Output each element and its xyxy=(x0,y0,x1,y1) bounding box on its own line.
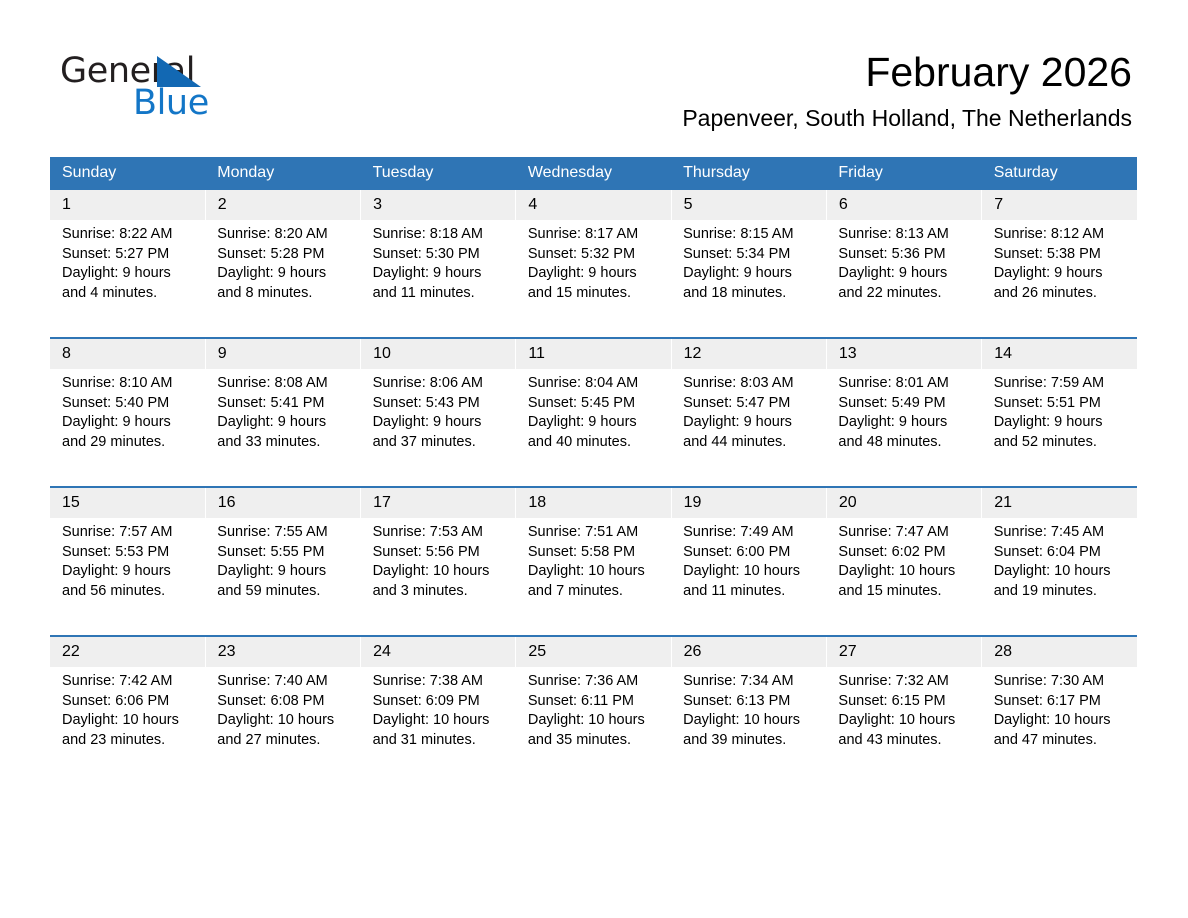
sunrise-text: Sunrise: 8:18 AM xyxy=(373,225,508,245)
week-4-day-numbers: 22 23 24 25 26 27 28 xyxy=(50,636,1137,667)
day-number[interactable]: 17 xyxy=(361,487,516,518)
week-3-day-details: Sunrise: 7:57 AM Sunset: 5:53 PM Dayligh… xyxy=(50,518,1137,636)
day-number[interactable]: 1 xyxy=(50,190,205,220)
daylight-text-line1: Daylight: 10 hours xyxy=(994,711,1129,731)
sunset-text: Sunset: 5:36 PM xyxy=(838,245,973,265)
day-cell[interactable]: Sunrise: 7:55 AM Sunset: 5:55 PM Dayligh… xyxy=(205,518,360,636)
daylight-text-line1: Daylight: 9 hours xyxy=(683,264,818,284)
sunset-text: Sunset: 5:47 PM xyxy=(683,394,818,414)
daylight-text-line1: Daylight: 10 hours xyxy=(683,562,818,582)
sunrise-text: Sunrise: 8:01 AM xyxy=(838,374,973,394)
day-cell[interactable]: Sunrise: 8:03 AM Sunset: 5:47 PM Dayligh… xyxy=(671,369,826,487)
sunrise-text: Sunrise: 7:45 AM xyxy=(994,523,1129,543)
day-cell[interactable]: Sunrise: 7:59 AM Sunset: 5:51 PM Dayligh… xyxy=(982,369,1137,487)
daylight-text-line1: Daylight: 10 hours xyxy=(838,562,973,582)
day-number[interactable]: 13 xyxy=(826,338,981,369)
daylight-text-line1: Daylight: 10 hours xyxy=(217,711,352,731)
sunrise-text: Sunrise: 7:30 AM xyxy=(994,672,1129,692)
weekday-header-monday: Monday xyxy=(205,157,360,190)
sunrise-text: Sunrise: 7:51 AM xyxy=(528,523,663,543)
day-cell[interactable]: Sunrise: 7:57 AM Sunset: 5:53 PM Dayligh… xyxy=(50,518,205,636)
sunset-text: Sunset: 6:08 PM xyxy=(217,692,352,712)
sunrise-text: Sunrise: 7:40 AM xyxy=(217,672,352,692)
sunset-text: Sunset: 5:43 PM xyxy=(373,394,508,414)
day-number[interactable]: 22 xyxy=(50,636,205,667)
sunset-text: Sunset: 6:04 PM xyxy=(994,543,1129,563)
daylight-text-line2: and 19 minutes. xyxy=(994,582,1129,602)
sunrise-text: Sunrise: 8:03 AM xyxy=(683,374,818,394)
daylight-text-line2: and 7 minutes. xyxy=(528,582,663,602)
day-cell[interactable]: Sunrise: 8:15 AM Sunset: 5:34 PM Dayligh… xyxy=(671,220,826,338)
daylight-text-line1: Daylight: 9 hours xyxy=(683,413,818,433)
daylight-text-line2: and 35 minutes. xyxy=(528,731,663,751)
sunset-text: Sunset: 6:09 PM xyxy=(373,692,508,712)
calendar-page: General Blue February 2026 Papenveer, So… xyxy=(0,0,1188,918)
sunset-text: Sunset: 5:51 PM xyxy=(994,394,1129,414)
daylight-text-line2: and 15 minutes. xyxy=(528,284,663,304)
week-4-day-details: Sunrise: 7:42 AM Sunset: 6:06 PM Dayligh… xyxy=(50,667,1137,784)
sunrise-text: Sunrise: 7:36 AM xyxy=(528,672,663,692)
sunset-text: Sunset: 6:00 PM xyxy=(683,543,818,563)
day-cell[interactable]: Sunrise: 7:45 AM Sunset: 6:04 PM Dayligh… xyxy=(982,518,1137,636)
daylight-text-line2: and 11 minutes. xyxy=(373,284,508,304)
day-cell[interactable]: Sunrise: 7:51 AM Sunset: 5:58 PM Dayligh… xyxy=(516,518,671,636)
sunrise-text: Sunrise: 8:12 AM xyxy=(994,225,1129,245)
daylight-text-line2: and 52 minutes. xyxy=(994,433,1129,453)
day-cell[interactable]: Sunrise: 7:40 AM Sunset: 6:08 PM Dayligh… xyxy=(205,667,360,784)
daylight-text-line2: and 3 minutes. xyxy=(373,582,508,602)
weekday-header-saturday: Saturday xyxy=(982,157,1137,190)
day-number[interactable]: 23 xyxy=(205,636,360,667)
weekday-header-tuesday: Tuesday xyxy=(361,157,516,190)
daylight-text-line1: Daylight: 9 hours xyxy=(994,413,1129,433)
day-cell[interactable]: Sunrise: 8:08 AM Sunset: 5:41 PM Dayligh… xyxy=(205,369,360,487)
location-subtitle: Papenveer, South Holland, The Netherland… xyxy=(682,105,1132,132)
daylight-text-line1: Daylight: 9 hours xyxy=(217,413,352,433)
sunset-text: Sunset: 6:15 PM xyxy=(838,692,973,712)
calendar-header-row: Sunday Monday Tuesday Wednesday Thursday… xyxy=(50,157,1137,190)
day-number[interactable]: 27 xyxy=(826,636,981,667)
day-cell[interactable]: Sunrise: 7:47 AM Sunset: 6:02 PM Dayligh… xyxy=(826,518,981,636)
day-number[interactable]: 18 xyxy=(516,487,671,518)
sunrise-text: Sunrise: 8:10 AM xyxy=(62,374,197,394)
day-number[interactable]: 8 xyxy=(50,338,205,369)
daylight-text-line2: and 8 minutes. xyxy=(217,284,352,304)
sunset-text: Sunset: 5:55 PM xyxy=(217,543,352,563)
daylight-text-line1: Daylight: 9 hours xyxy=(994,264,1129,284)
sunrise-text: Sunrise: 8:04 AM xyxy=(528,374,663,394)
week-1-day-numbers: 1 2 3 4 5 6 7 xyxy=(50,190,1137,220)
sunset-text: Sunset: 5:40 PM xyxy=(62,394,197,414)
daylight-text-line2: and 29 minutes. xyxy=(62,433,197,453)
sunset-text: Sunset: 5:27 PM xyxy=(62,245,197,265)
sunset-text: Sunset: 5:45 PM xyxy=(528,394,663,414)
daylight-text-line2: and 15 minutes. xyxy=(838,582,973,602)
daylight-text-line1: Daylight: 10 hours xyxy=(683,711,818,731)
day-cell[interactable]: Sunrise: 8:18 AM Sunset: 5:30 PM Dayligh… xyxy=(361,220,516,338)
daylight-text-line2: and 26 minutes. xyxy=(994,284,1129,304)
daylight-text-line2: and 59 minutes. xyxy=(217,582,352,602)
day-number[interactable]: 10 xyxy=(361,338,516,369)
week-2-day-numbers: 8 9 10 11 12 13 14 xyxy=(50,338,1137,369)
weekday-header-wednesday: Wednesday xyxy=(516,157,671,190)
sunset-text: Sunset: 5:58 PM xyxy=(528,543,663,563)
daylight-text-line2: and 39 minutes. xyxy=(683,731,818,751)
daylight-text-line1: Daylight: 10 hours xyxy=(373,711,508,731)
day-number[interactable]: 20 xyxy=(826,487,981,518)
day-number[interactable]: 28 xyxy=(982,636,1137,667)
daylight-text-line1: Daylight: 9 hours xyxy=(62,562,197,582)
daylight-text-line2: and 22 minutes. xyxy=(838,284,973,304)
day-number[interactable]: 16 xyxy=(205,487,360,518)
day-cell[interactable]: Sunrise: 7:49 AM Sunset: 6:00 PM Dayligh… xyxy=(671,518,826,636)
daylight-text-line2: and 4 minutes. xyxy=(62,284,197,304)
day-cell[interactable]: Sunrise: 8:01 AM Sunset: 5:49 PM Dayligh… xyxy=(826,369,981,487)
day-number[interactable]: 24 xyxy=(361,636,516,667)
daylight-text-line1: Daylight: 9 hours xyxy=(528,264,663,284)
sunset-text: Sunset: 6:06 PM xyxy=(62,692,197,712)
day-cell[interactable]: Sunrise: 8:13 AM Sunset: 5:36 PM Dayligh… xyxy=(826,220,981,338)
daylight-text-line1: Daylight: 9 hours xyxy=(217,264,352,284)
sunrise-text: Sunrise: 7:38 AM xyxy=(373,672,508,692)
day-cell[interactable]: Sunrise: 7:38 AM Sunset: 6:09 PM Dayligh… xyxy=(361,667,516,784)
sunset-text: Sunset: 5:38 PM xyxy=(994,245,1129,265)
weekday-header-friday: Friday xyxy=(826,157,981,190)
day-cell[interactable]: Sunrise: 8:22 AM Sunset: 5:27 PM Dayligh… xyxy=(50,220,205,338)
sunset-text: Sunset: 5:28 PM xyxy=(217,245,352,265)
day-number[interactable]: 21 xyxy=(982,487,1137,518)
calendar-container: Sunday Monday Tuesday Wednesday Thursday… xyxy=(50,157,1137,784)
daylight-text-line2: and 31 minutes. xyxy=(373,731,508,751)
day-cell[interactable]: Sunrise: 7:30 AM Sunset: 6:17 PM Dayligh… xyxy=(982,667,1137,784)
day-number[interactable]: 19 xyxy=(671,487,826,518)
daylight-text-line1: Daylight: 9 hours xyxy=(217,562,352,582)
week-3-day-numbers: 15 16 17 18 19 20 21 xyxy=(50,487,1137,518)
sunset-text: Sunset: 5:34 PM xyxy=(683,245,818,265)
day-cell[interactable]: Sunrise: 7:32 AM Sunset: 6:15 PM Dayligh… xyxy=(826,667,981,784)
day-cell[interactable]: Sunrise: 8:10 AM Sunset: 5:40 PM Dayligh… xyxy=(50,369,205,487)
sunrise-text: Sunrise: 7:49 AM xyxy=(683,523,818,543)
sunrise-text: Sunrise: 7:59 AM xyxy=(994,374,1129,394)
daylight-text-line2: and 18 minutes. xyxy=(683,284,818,304)
daylight-text-line1: Daylight: 10 hours xyxy=(528,562,663,582)
generalblue-logo[interactable]: General Blue xyxy=(60,52,260,122)
sunset-text: Sunset: 6:13 PM xyxy=(683,692,818,712)
sunset-text: Sunset: 5:49 PM xyxy=(838,394,973,414)
daylight-text-line1: Daylight: 9 hours xyxy=(62,264,197,284)
page-header: General Blue February 2026 Papenveer, So… xyxy=(0,0,1188,110)
daylight-text-line2: and 33 minutes. xyxy=(217,433,352,453)
sunrise-text: Sunrise: 7:42 AM xyxy=(62,672,197,692)
calendar-table: Sunday Monday Tuesday Wednesday Thursday… xyxy=(50,157,1137,784)
day-number[interactable]: 7 xyxy=(982,190,1137,220)
week-2-day-details: Sunrise: 8:10 AM Sunset: 5:40 PM Dayligh… xyxy=(50,369,1137,487)
sunset-text: Sunset: 5:56 PM xyxy=(373,543,508,563)
daylight-text-line1: Daylight: 10 hours xyxy=(528,711,663,731)
day-number[interactable]: 25 xyxy=(516,636,671,667)
daylight-text-line2: and 43 minutes. xyxy=(838,731,973,751)
daylight-text-line1: Daylight: 9 hours xyxy=(838,264,973,284)
daylight-text-line1: Daylight: 10 hours xyxy=(373,562,508,582)
day-cell[interactable]: Sunrise: 7:36 AM Sunset: 6:11 PM Dayligh… xyxy=(516,667,671,784)
daylight-text-line1: Daylight: 9 hours xyxy=(373,264,508,284)
day-cell[interactable]: Sunrise: 8:20 AM Sunset: 5:28 PM Dayligh… xyxy=(205,220,360,338)
daylight-text-line1: Daylight: 9 hours xyxy=(373,413,508,433)
title-block: February 2026 Papenveer, South Holland, … xyxy=(682,48,1132,132)
sunset-text: Sunset: 6:02 PM xyxy=(838,543,973,563)
daylight-text-line2: and 44 minutes. xyxy=(683,433,818,453)
sunrise-text: Sunrise: 8:06 AM xyxy=(373,374,508,394)
sunset-text: Sunset: 6:17 PM xyxy=(994,692,1129,712)
daylight-text-line2: and 56 minutes. xyxy=(62,582,197,602)
sunrise-text: Sunrise: 7:57 AM xyxy=(62,523,197,543)
daylight-text-line1: Daylight: 10 hours xyxy=(838,711,973,731)
page-title: February 2026 xyxy=(682,48,1132,96)
day-number[interactable]: 4 xyxy=(516,190,671,220)
week-1-day-details: Sunrise: 8:22 AM Sunset: 5:27 PM Dayligh… xyxy=(50,220,1137,338)
calendar-body: 1 2 3 4 5 6 7 Sunrise: 8:22 AM Sunset: 5… xyxy=(50,190,1137,784)
daylight-text-line2: and 11 minutes. xyxy=(683,582,818,602)
day-number[interactable]: 6 xyxy=(826,190,981,220)
weekday-header-sunday: Sunday xyxy=(50,157,205,190)
daylight-text-line2: and 48 minutes. xyxy=(838,433,973,453)
daylight-text-line2: and 23 minutes. xyxy=(62,731,197,751)
sunrise-text: Sunrise: 7:55 AM xyxy=(217,523,352,543)
daylight-text-line1: Daylight: 9 hours xyxy=(528,413,663,433)
day-cell[interactable]: Sunrise: 7:34 AM Sunset: 6:13 PM Dayligh… xyxy=(671,667,826,784)
daylight-text-line2: and 37 minutes. xyxy=(373,433,508,453)
day-number[interactable]: 3 xyxy=(361,190,516,220)
daylight-text-line1: Daylight: 10 hours xyxy=(994,562,1129,582)
daylight-text-line2: and 27 minutes. xyxy=(217,731,352,751)
sunset-text: Sunset: 5:53 PM xyxy=(62,543,197,563)
sunrise-text: Sunrise: 8:08 AM xyxy=(217,374,352,394)
day-number[interactable]: 9 xyxy=(205,338,360,369)
sunrise-text: Sunrise: 7:32 AM xyxy=(838,672,973,692)
day-number[interactable]: 15 xyxy=(50,487,205,518)
day-number[interactable]: 14 xyxy=(982,338,1137,369)
day-number[interactable]: 5 xyxy=(671,190,826,220)
day-number[interactable]: 11 xyxy=(516,338,671,369)
sunrise-text: Sunrise: 7:34 AM xyxy=(683,672,818,692)
sunrise-text: Sunrise: 7:47 AM xyxy=(838,523,973,543)
sunrise-text: Sunrise: 8:15 AM xyxy=(683,225,818,245)
logo-text-blue: Blue xyxy=(133,84,209,122)
day-cell[interactable]: Sunrise: 8:04 AM Sunset: 5:45 PM Dayligh… xyxy=(516,369,671,487)
sunrise-text: Sunrise: 7:53 AM xyxy=(373,523,508,543)
sunrise-text: Sunrise: 8:17 AM xyxy=(528,225,663,245)
day-cell[interactable]: Sunrise: 8:12 AM Sunset: 5:38 PM Dayligh… xyxy=(982,220,1137,338)
sunset-text: Sunset: 6:11 PM xyxy=(528,692,663,712)
day-number[interactable]: 26 xyxy=(671,636,826,667)
sunrise-text: Sunrise: 8:20 AM xyxy=(217,225,352,245)
day-cell[interactable]: Sunrise: 8:17 AM Sunset: 5:32 PM Dayligh… xyxy=(516,220,671,338)
day-cell[interactable]: Sunrise: 8:06 AM Sunset: 5:43 PM Dayligh… xyxy=(361,369,516,487)
day-number[interactable]: 12 xyxy=(671,338,826,369)
sunset-text: Sunset: 5:30 PM xyxy=(373,245,508,265)
daylight-text-line1: Daylight: 9 hours xyxy=(838,413,973,433)
daylight-text-line1: Daylight: 9 hours xyxy=(62,413,197,433)
sunset-text: Sunset: 5:32 PM xyxy=(528,245,663,265)
weekday-header-thursday: Thursday xyxy=(671,157,826,190)
daylight-text-line2: and 47 minutes. xyxy=(994,731,1129,751)
daylight-text-line2: and 40 minutes. xyxy=(528,433,663,453)
daylight-text-line1: Daylight: 10 hours xyxy=(62,711,197,731)
day-number[interactable]: 2 xyxy=(205,190,360,220)
sunrise-text: Sunrise: 8:22 AM xyxy=(62,225,197,245)
day-cell[interactable]: Sunrise: 7:53 AM Sunset: 5:56 PM Dayligh… xyxy=(361,518,516,636)
day-cell[interactable]: Sunrise: 7:42 AM Sunset: 6:06 PM Dayligh… xyxy=(50,667,205,784)
sunset-text: Sunset: 5:41 PM xyxy=(217,394,352,414)
sunrise-text: Sunrise: 8:13 AM xyxy=(838,225,973,245)
